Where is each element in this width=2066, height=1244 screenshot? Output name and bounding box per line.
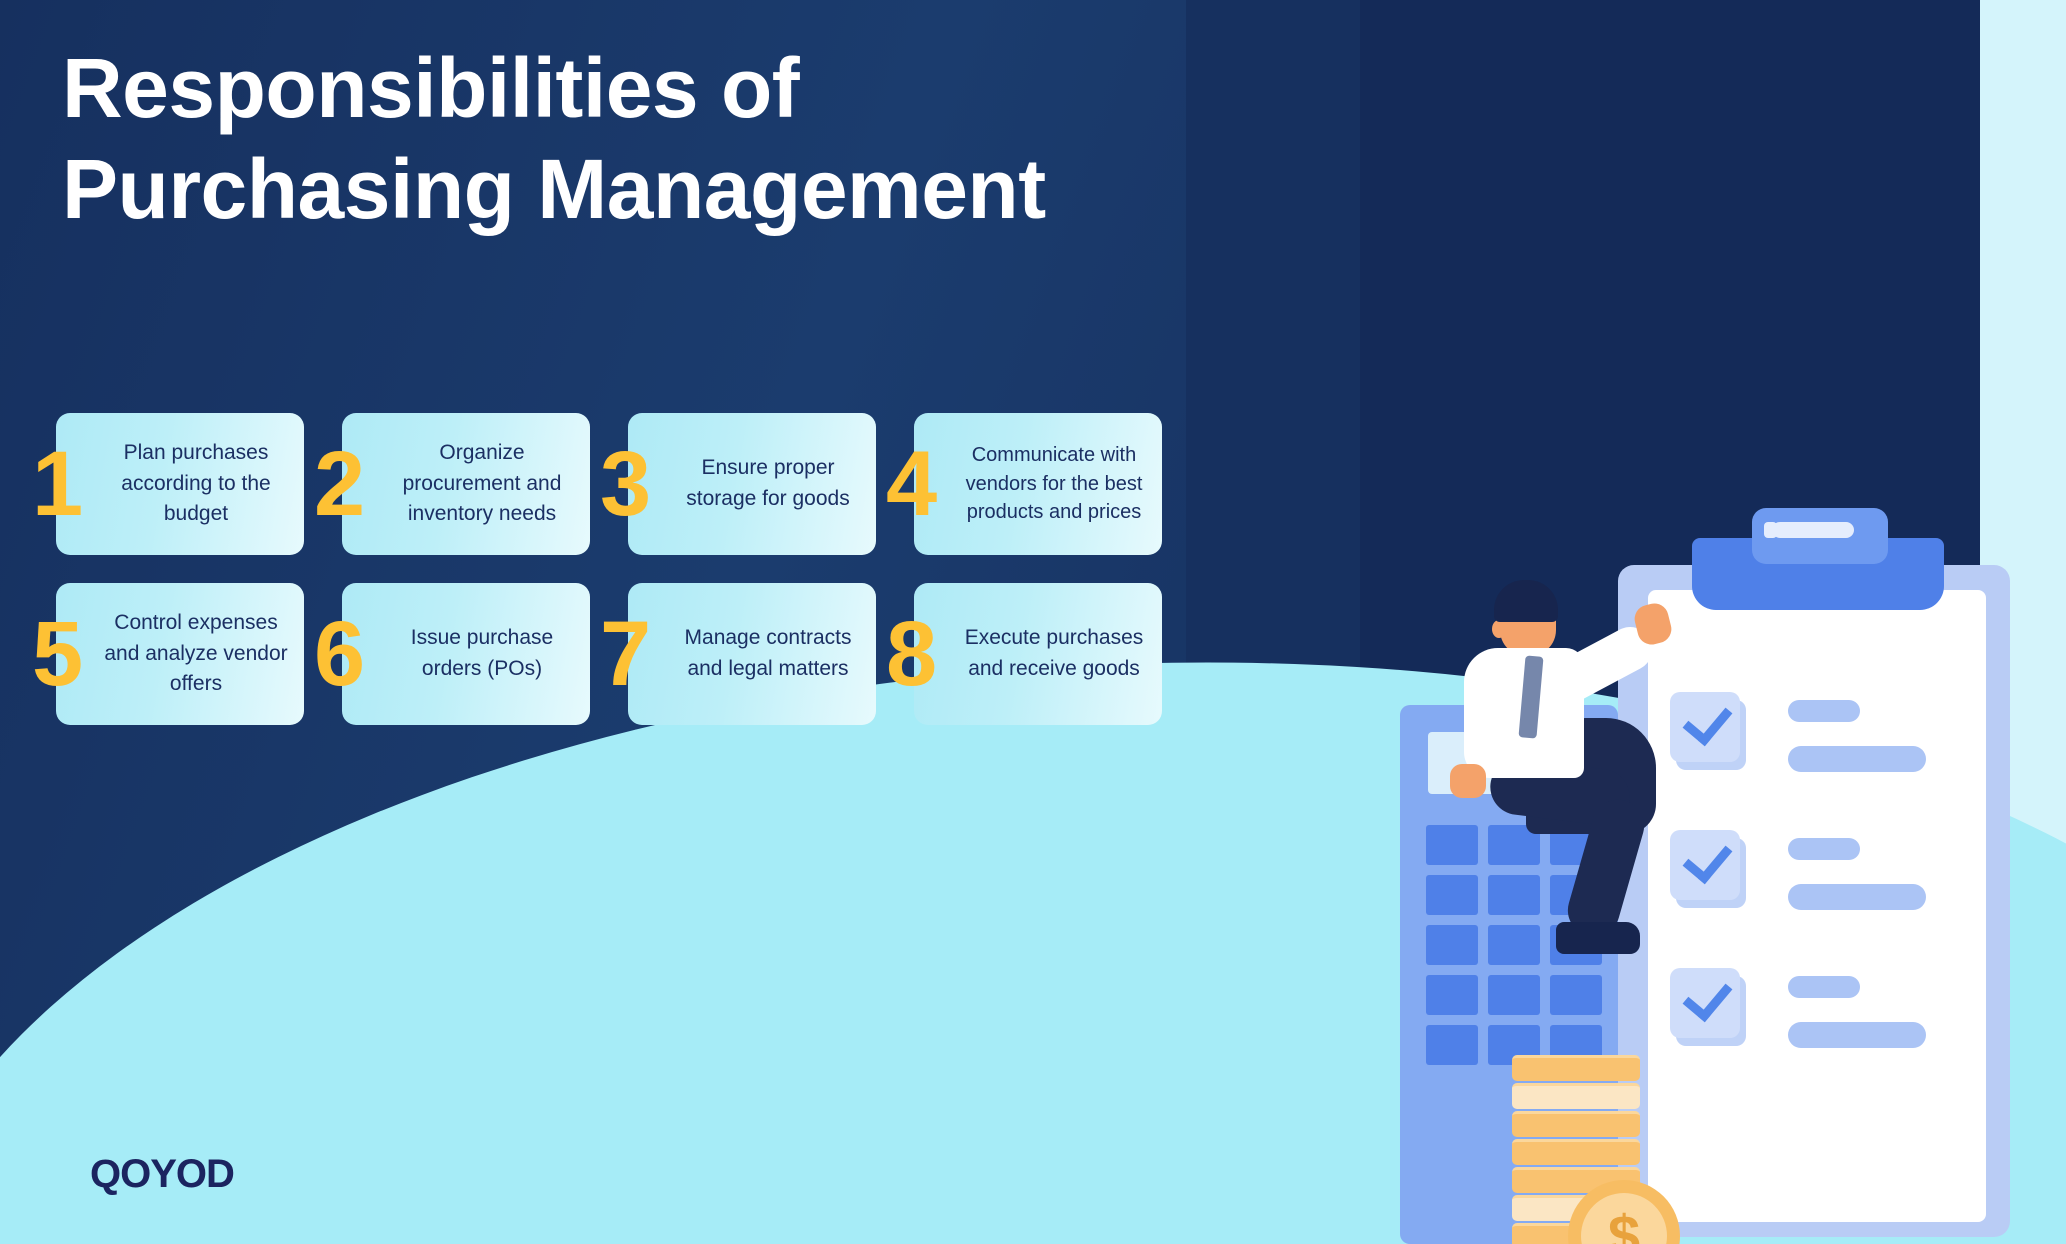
page-title: Responsibilities of Purchasing Managemen… (62, 38, 1262, 240)
card-label: Ensure proper storage for goods (674, 453, 862, 515)
hero-illustration: $ (1400, 480, 2066, 1244)
calculator-key (1426, 1025, 1478, 1065)
coin-layer (1512, 1111, 1640, 1137)
card-number-badge: 3 (600, 438, 651, 530)
card-label: Plan purchases according to the budget (102, 438, 290, 531)
responsibility-card: 8 Execute purchases and receive goods (914, 583, 1162, 725)
infographic-canvas: Responsibilities of Purchasing Managemen… (0, 0, 2066, 1244)
responsibility-card: 6 Issue purchase orders (POs) (342, 583, 590, 725)
card-label: Execute purchases and receive goods (960, 623, 1148, 685)
clipboard-text-line (1788, 1022, 1926, 1048)
clipboard-text-line (1788, 884, 1926, 910)
clipboard-text-line (1788, 746, 1926, 772)
clipboard-text-line (1788, 976, 1860, 998)
responsibility-card: 7 Manage contracts and legal matters (628, 583, 876, 725)
page-title-line-2: Purchasing Management (62, 139, 1262, 240)
card-label: Control expenses and analyze vendor offe… (102, 608, 290, 701)
coin-layer (1512, 1139, 1640, 1165)
clipboard-text-line (1788, 838, 1860, 860)
responsibility-card: 4 Communicate with vendors for the best … (914, 413, 1162, 555)
clipboard-clip-slot (1772, 522, 1854, 538)
card-number-badge: 1 (32, 438, 83, 530)
page-title-line-1: Responsibilities of (62, 38, 1262, 139)
responsibility-card-grid: 1 Plan purchases according to the budget… (56, 413, 1156, 725)
card-label: Organize procurement and inventory needs (388, 438, 576, 531)
qoyod-logo: QOYOD (90, 1152, 234, 1197)
businessman-character (1430, 568, 1710, 988)
responsibility-card: 2 Organize procurement and inventory nee… (342, 413, 590, 555)
responsibility-card: 3 Ensure proper storage for goods (628, 413, 876, 555)
card-label: Communicate with vendors for the best pr… (960, 441, 1148, 527)
card-number-badge: 6 (314, 608, 365, 700)
card-number-badge: 5 (32, 608, 83, 700)
clipboard-text-line (1788, 700, 1860, 722)
coin-layer (1512, 1083, 1640, 1109)
character-hand-resting (1450, 764, 1486, 798)
responsibility-card: 1 Plan purchases according to the budget (56, 413, 304, 555)
card-number-badge: 7 (600, 608, 651, 700)
character-shoe (1556, 922, 1640, 954)
card-number-badge: 2 (314, 438, 365, 530)
card-number-badge: 8 (886, 608, 937, 700)
coin-layer (1512, 1055, 1640, 1081)
card-label: Issue purchase orders (POs) (388, 623, 576, 685)
character-hair (1494, 580, 1558, 622)
responsibility-card: 5 Control expenses and analyze vendor of… (56, 583, 304, 725)
dollar-symbol: $ (1581, 1193, 1667, 1244)
card-number-badge: 4 (886, 438, 937, 530)
card-label: Manage contracts and legal matters (674, 623, 862, 685)
